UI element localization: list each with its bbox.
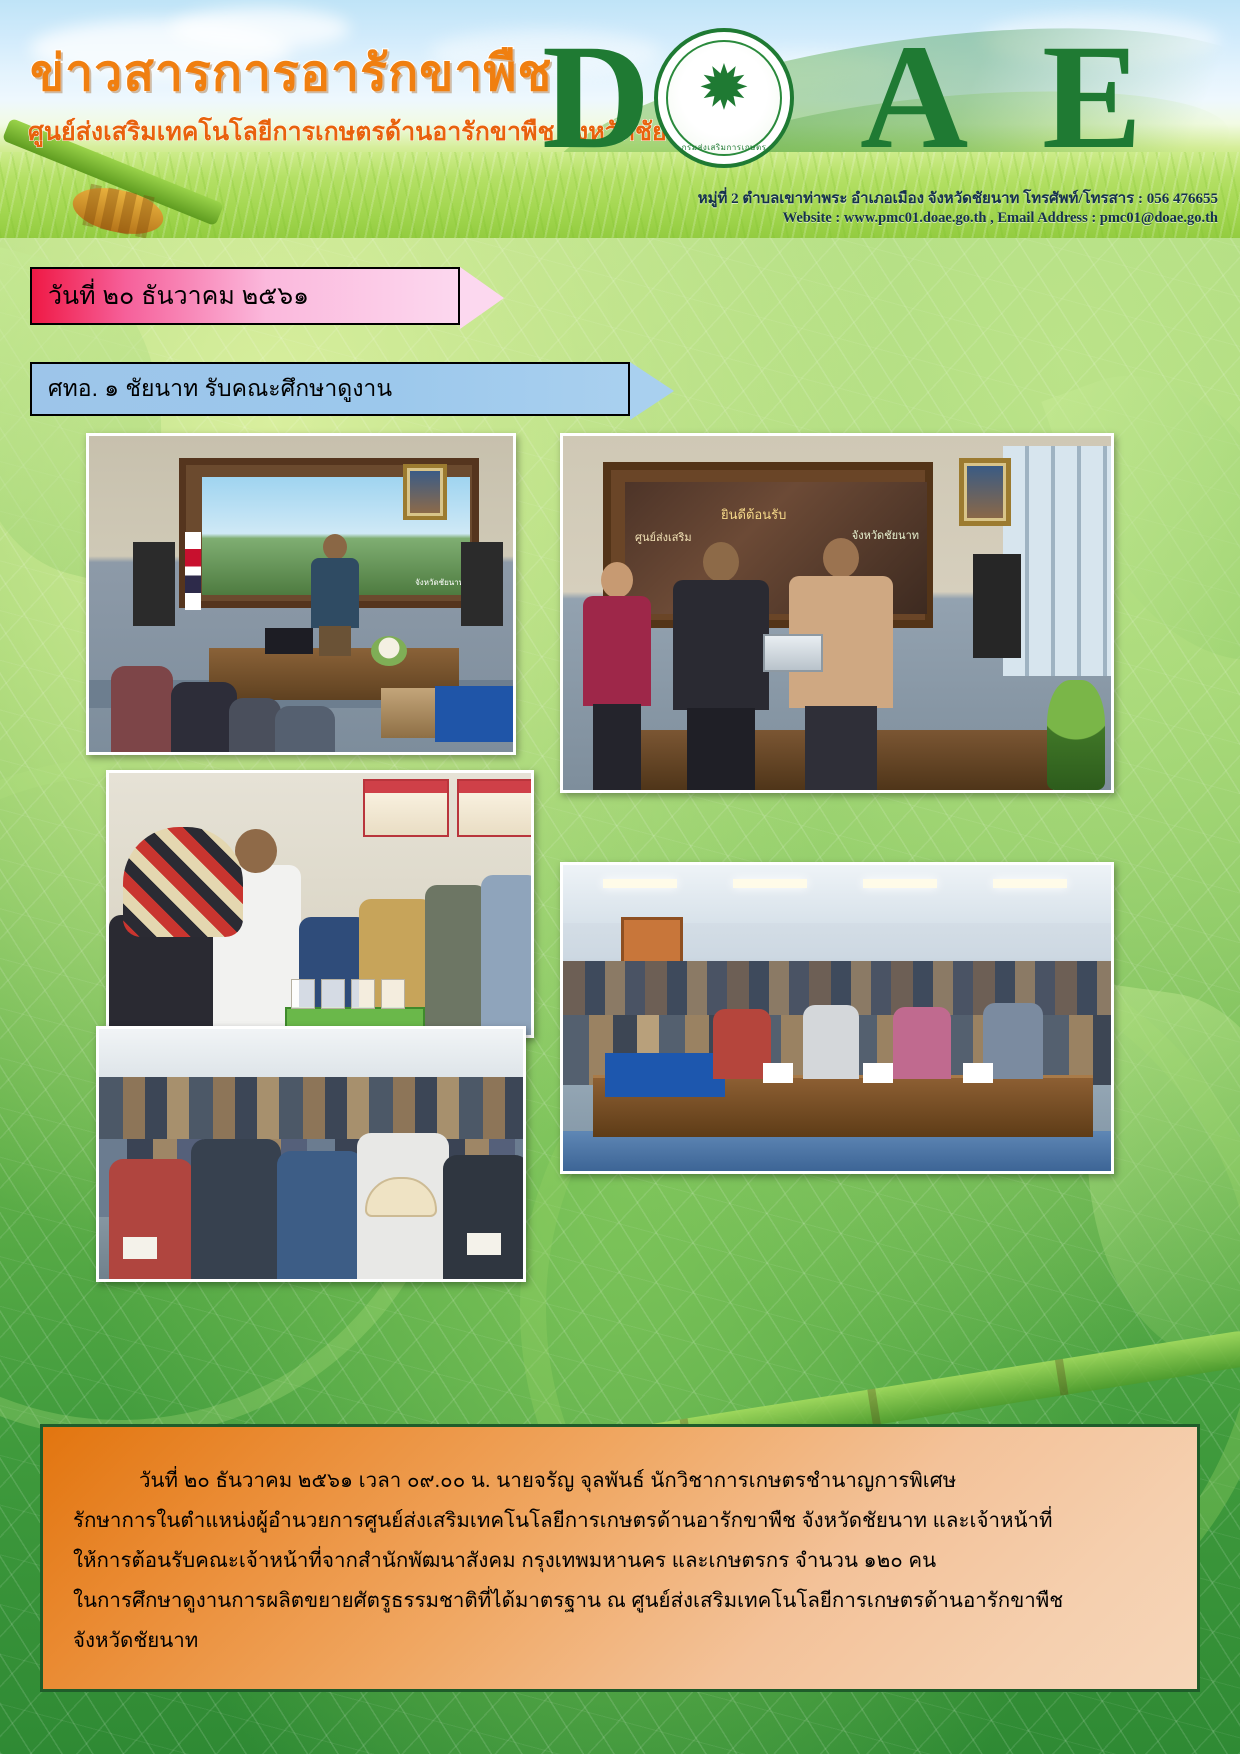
- photo-conference-hall: [560, 862, 1114, 1174]
- photo-gift-presentation: ศูนย์ส่งเสริม ยินดีต้อนรับ จังหวัดชัยนาท: [560, 433, 1114, 793]
- photo1-screen-label: จังหวัดชัยนาท: [415, 576, 464, 589]
- headline-banner: ศทอ. ๑ ชัยนาท รับคณะศึกษาดูงาน: [30, 362, 630, 416]
- headline-banner-label: ศทอ. ๑ ชัยนาท รับคณะศึกษาดูงาน: [48, 371, 392, 407]
- masthead-banner: ข่าวสารการอารักขาพืช ศูนย์ส่งเสริมเทคโนโ…: [0, 0, 1240, 238]
- logo-letter-e: E: [1042, 22, 1138, 172]
- logo-letter-a: A: [860, 22, 964, 172]
- photo-presentation-room: จังหวัดชัยนาท: [86, 433, 516, 755]
- photo2-screen-welcome: ยินดีต้อนรับ: [721, 504, 786, 525]
- caption-line-3: ให้การต้อนรับคณะเจ้าหน้าที่จากสำนักพัฒนา…: [73, 1541, 1167, 1581]
- insect-illustration: [20, 154, 210, 238]
- contact-address: หมู่ที่ 2 ตำบลเขาท่าพระ อำเภอเมือง จังหว…: [698, 186, 1218, 210]
- photo-seated-participants: [96, 1026, 526, 1282]
- contact-web-email: Website : www.pmc01.doae.go.th , Email A…: [783, 210, 1218, 227]
- caption-line-2: รักษาการในตำแหน่งผู้อำนวยการศูนย์ส่งเสริ…: [73, 1501, 1167, 1541]
- seal-garuda-glyph: ✹: [658, 58, 790, 120]
- caption-box: วันที่ ๒๐ ธันวาคม ๒๕๖๑ เวลา ๐๙.๐๐ น. นาย…: [40, 1424, 1200, 1692]
- photo-natural-enemy-demo: [106, 770, 534, 1038]
- doae-seal-icon: ✹ กรมส่งเสริมการเกษตร: [654, 28, 794, 168]
- newsletter-title: ข่าวสารการอารักขาพืช: [30, 34, 552, 113]
- doae-logo: D ✹ กรมส่งเสริมการเกษตร A E: [542, 22, 1232, 172]
- caption-line-1: วันที่ ๒๐ ธันวาคม ๒๕๖๑ เวลา ๐๙.๐๐ น. นาย…: [73, 1461, 1167, 1501]
- logo-letter-d: D: [542, 22, 646, 172]
- seal-ring-label: กรมส่งเสริมการเกษตร: [658, 141, 790, 154]
- date-banner-label: วันที่ ๒๐ ธันวาคม ๒๕๖๑: [48, 276, 309, 316]
- caption-line-4: ในการศึกษาดูงานการผลิตขยายศัตรูธรรมชาติท…: [73, 1581, 1167, 1621]
- newsletter-page: ข่าวสารการอารักขาพืช ศูนย์ส่งเสริมเทคโนโ…: [0, 0, 1240, 1754]
- caption-line-5: จังหวัดชัยนาท: [73, 1621, 1167, 1661]
- date-banner: วันที่ ๒๐ ธันวาคม ๒๕๖๑: [30, 267, 460, 325]
